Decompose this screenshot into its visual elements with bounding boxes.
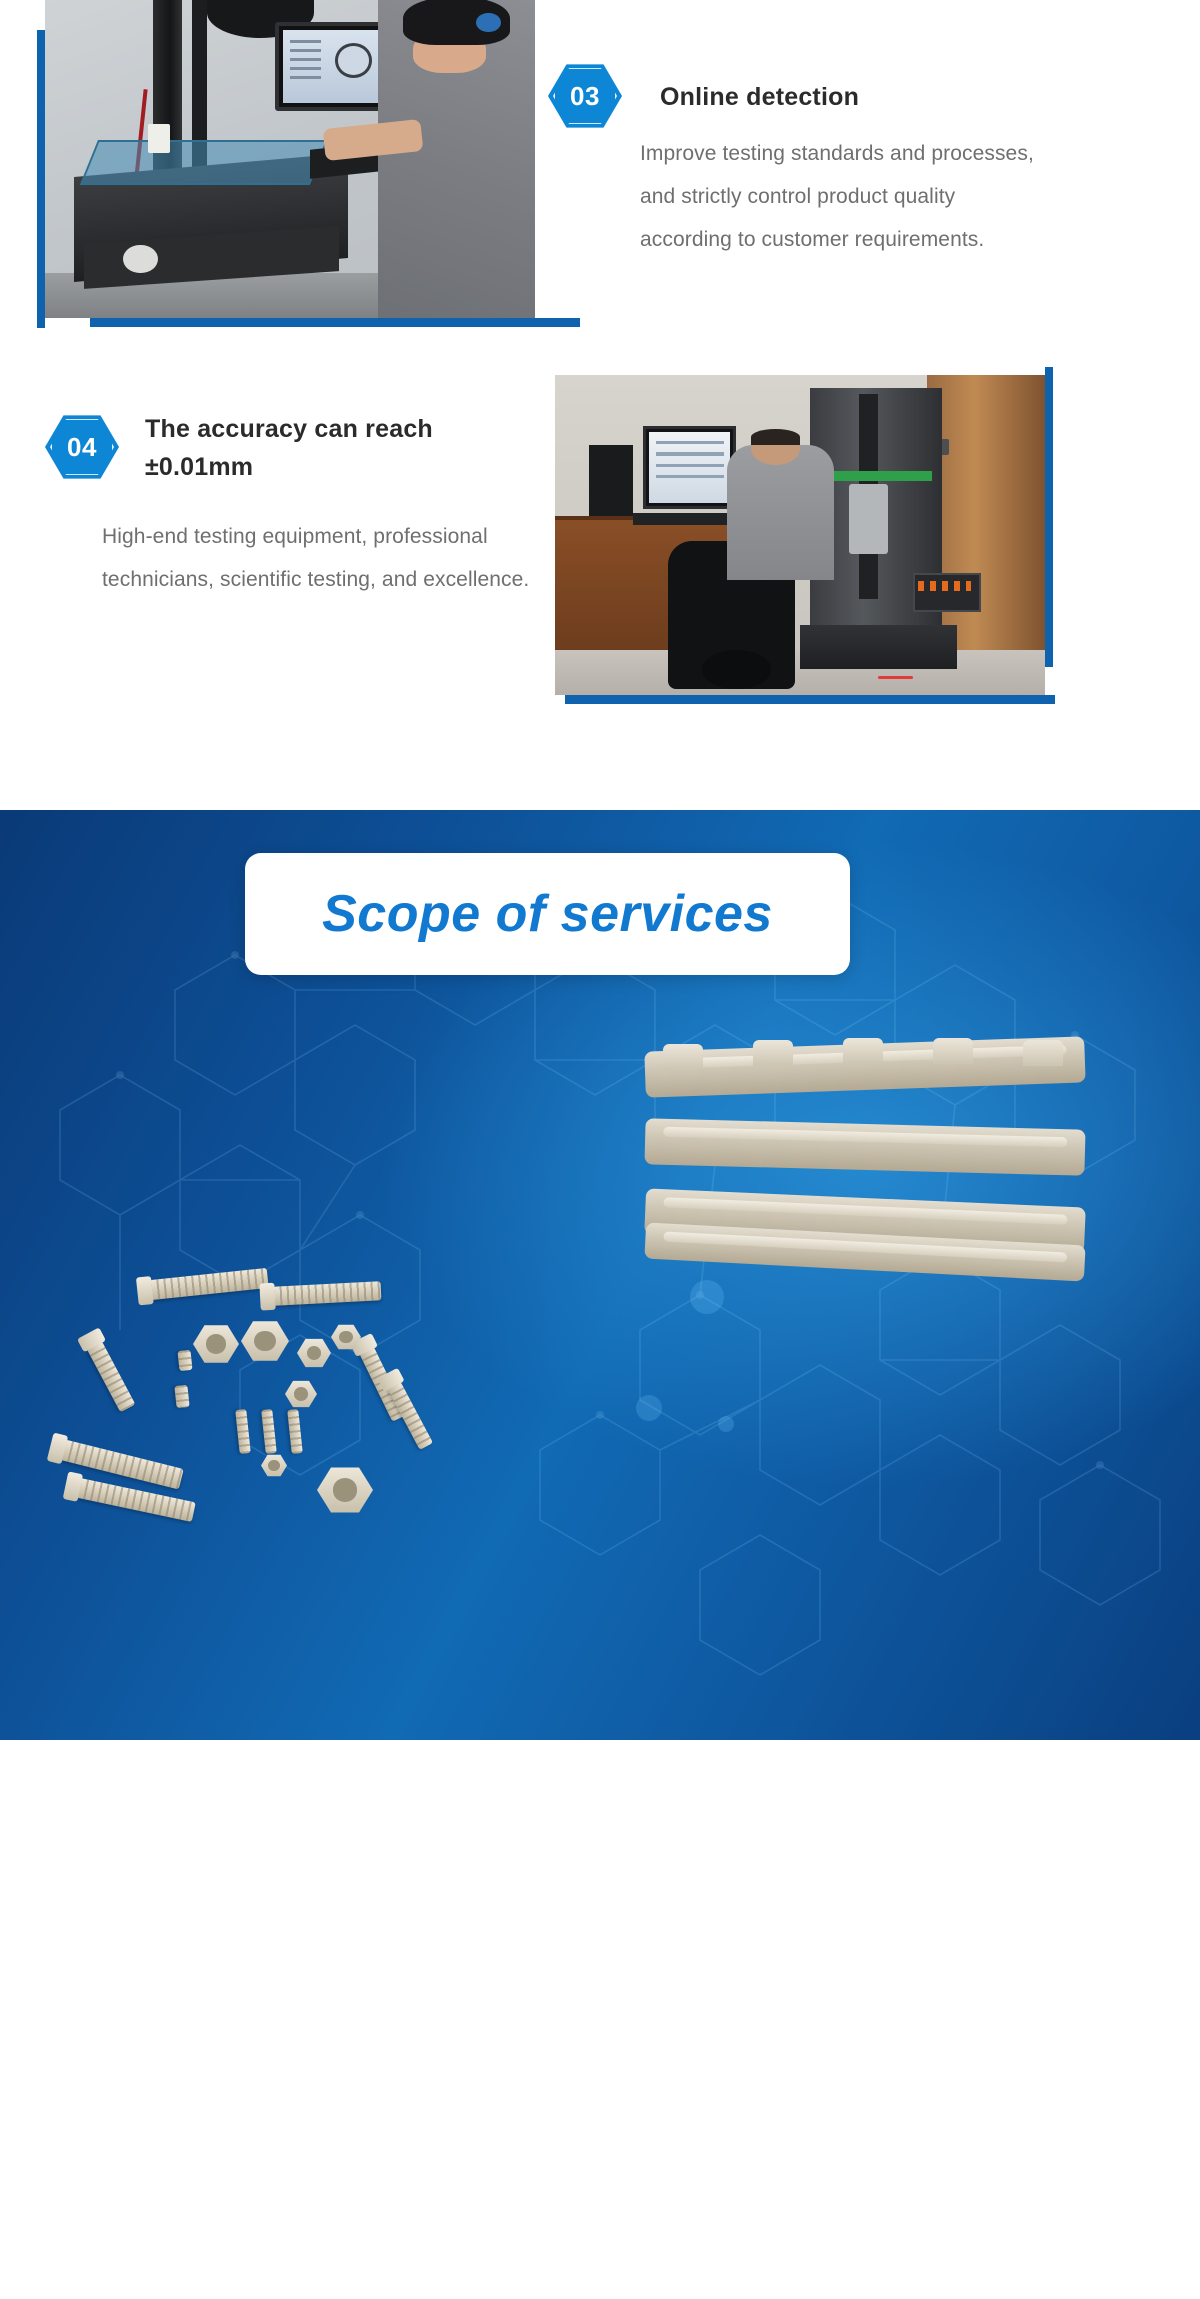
photo-accent-bar-bottom (90, 318, 580, 327)
decorative-glow-dot (636, 1395, 662, 1421)
decorative-glow-dot (718, 1416, 734, 1432)
photo-accent-bar-bottom (565, 695, 1055, 704)
service-title: CNC processing of engineering plastics (203, 1808, 963, 1844)
service-number: 02 (472, 2128, 629, 2276)
service-title: PEEK Standard (668, 2140, 1098, 2176)
banner-title: Scope of services (322, 884, 773, 944)
cnc-plastic-parts-image (645, 1038, 1085, 1270)
accuracy-photo (555, 375, 1045, 695)
service-body: PEEK screws, PEEK balls and other produc… (660, 2206, 1095, 2299)
feature-title: The accuracy can reach ±0.01mm (145, 410, 545, 486)
accuracy-photo-frame (555, 375, 1045, 695)
photo-accent-bar-left (37, 30, 45, 328)
photo-accent-bar-right (1045, 367, 1053, 667)
peek-fasteners-image (45, 1268, 475, 1518)
feature-number: 03 (570, 81, 600, 112)
service-body: Rich experience in engineering plastics … (203, 1870, 628, 2025)
feature-body: Improve testing standards and processes,… (640, 132, 1040, 261)
scope-of-services-banner: Scope of services (245, 853, 850, 975)
product-detail-page: 03 Online detection Improve testing stan… (0, 0, 1200, 1740)
feature-title: Online detection (660, 78, 1080, 116)
hexagon-number-badge-icon: 03 (548, 63, 622, 129)
feature-number: 04 (67, 432, 97, 463)
online-detection-photo-frame (45, 0, 535, 318)
hexagon-number-badge-icon: 04 (45, 414, 119, 480)
online-detection-photo (45, 0, 535, 318)
features-section: 03 Online detection Improve testing stan… (0, 0, 1200, 810)
feature-body: High-end testing equipment, professional… (102, 515, 542, 601)
service-number: 01 (28, 1825, 185, 1973)
decorative-glow-dot (690, 1280, 724, 1314)
